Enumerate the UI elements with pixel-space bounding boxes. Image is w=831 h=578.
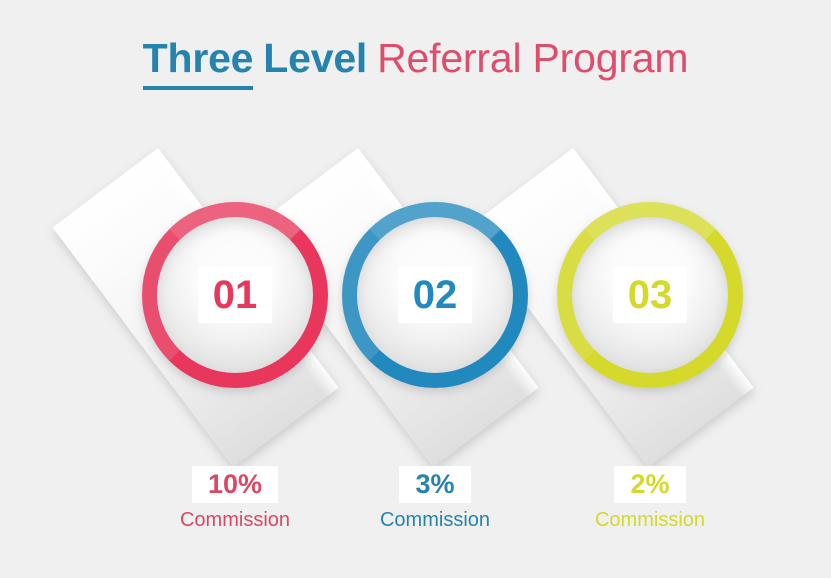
- commission-block-2: 3% Commission: [340, 466, 530, 533]
- commission-3-percent: 2%: [630, 469, 669, 499]
- commission-1-percent-plate: 10%: [192, 466, 278, 503]
- commission-2-label: Commission: [340, 507, 530, 533]
- level-1-number: 01: [213, 275, 258, 315]
- page-title: ThreeLevelReferral Program: [0, 33, 831, 90]
- commission-block-3: 2% Commission: [555, 466, 745, 533]
- level-circle-1[interactable]: 01: [142, 202, 328, 388]
- level-2-number: 02: [413, 275, 458, 315]
- level-2-number-plate: 02: [398, 267, 472, 323]
- commission-2-percent: 3%: [415, 469, 454, 499]
- commission-2-percent-plate: 3%: [399, 466, 470, 503]
- commission-block-1: 10% Commission: [140, 466, 330, 533]
- title-word-level: Level: [253, 33, 367, 83]
- level-3-number-plate: 03: [613, 267, 687, 323]
- level-3-number: 03: [628, 275, 673, 315]
- level-1-number-plate: 01: [198, 267, 272, 323]
- level-circle-3[interactable]: 03: [557, 202, 743, 388]
- title-phrase-referral-program: Referral Program: [367, 33, 688, 83]
- infographic-canvas: ThreeLevelReferral Program 01 02 03: [0, 0, 831, 578]
- commission-1-label: Commission: [140, 507, 330, 533]
- level-circle-2[interactable]: 02: [342, 202, 528, 388]
- commission-3-label: Commission: [555, 507, 745, 533]
- title-word-three: Three: [143, 33, 254, 90]
- commission-3-percent-plate: 2%: [614, 466, 685, 503]
- commission-1-percent: 10%: [208, 469, 262, 499]
